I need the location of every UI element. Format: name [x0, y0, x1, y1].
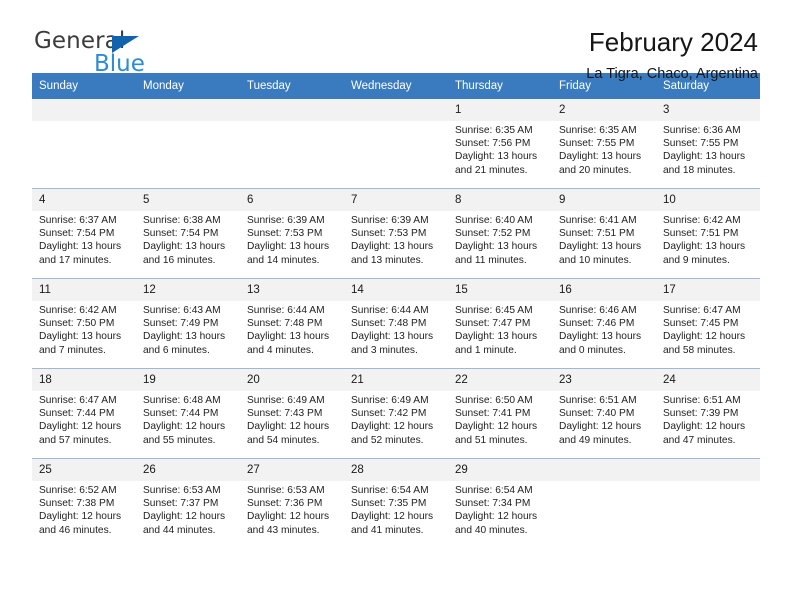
- calendar-page: General Blue February 2024 La Tigra, Cha…: [0, 0, 792, 612]
- sunrise-text: Sunrise: 6:47 AM: [39, 394, 128, 407]
- day-number: 21: [344, 369, 448, 391]
- day-info: [656, 481, 760, 484]
- day-cell[interactable]: 28 Sunrise: 6:54 AM Sunset: 7:35 PM Dayl…: [344, 459, 448, 549]
- daylight-text-line1: Daylight: 13 hours: [247, 330, 336, 343]
- day-info: Sunrise: 6:35 AM Sunset: 7:55 PM Dayligh…: [552, 121, 656, 177]
- general-blue-logo[interactable]: General Blue: [34, 28, 254, 76]
- sunset-text: Sunset: 7:48 PM: [351, 317, 440, 330]
- daylight-text-line1: Daylight: 12 hours: [143, 510, 232, 523]
- sunset-text: Sunset: 7:45 PM: [663, 317, 752, 330]
- page-masthead: General Blue February 2024 La Tigra, Cha…: [32, 0, 760, 73]
- day-info: Sunrise: 6:53 AM Sunset: 7:36 PM Dayligh…: [240, 481, 344, 537]
- day-cell[interactable]: 11 Sunrise: 6:42 AM Sunset: 7:50 PM Dayl…: [32, 279, 136, 369]
- day-number: [136, 99, 240, 121]
- weekday-header-tuesday: Tuesday: [240, 73, 344, 99]
- day-number: [656, 459, 760, 481]
- daylight-text-line2: and 6 minutes.: [143, 344, 232, 357]
- daylight-text-line1: Daylight: 13 hours: [559, 150, 648, 163]
- daylight-text-line1: Daylight: 13 hours: [559, 330, 648, 343]
- day-info: Sunrise: 6:52 AM Sunset: 7:38 PM Dayligh…: [32, 481, 136, 537]
- daylight-text-line2: and 14 minutes.: [247, 254, 336, 267]
- sunrise-text: Sunrise: 6:44 AM: [351, 304, 440, 317]
- daylight-text-line1: Daylight: 12 hours: [455, 510, 544, 523]
- sunset-text: Sunset: 7:53 PM: [351, 227, 440, 240]
- sunrise-text: Sunrise: 6:49 AM: [351, 394, 440, 407]
- sunset-text: Sunset: 7:36 PM: [247, 497, 336, 510]
- day-number: 14: [344, 279, 448, 301]
- daylight-text-line1: Daylight: 13 hours: [455, 330, 544, 343]
- day-number: [32, 99, 136, 121]
- sunrise-text: Sunrise: 6:35 AM: [559, 124, 648, 137]
- sunrise-text: Sunrise: 6:38 AM: [143, 214, 232, 227]
- day-info: Sunrise: 6:54 AM Sunset: 7:35 PM Dayligh…: [344, 481, 448, 537]
- title-block: February 2024 La Tigra, Chaco, Argentina: [586, 26, 758, 84]
- sunrise-text: Sunrise: 6:52 AM: [39, 484, 128, 497]
- sunrise-text: Sunrise: 6:53 AM: [247, 484, 336, 497]
- day-info: Sunrise: 6:50 AM Sunset: 7:41 PM Dayligh…: [448, 391, 552, 447]
- sunset-text: Sunset: 7:51 PM: [559, 227, 648, 240]
- calendar-week-row: 18 Sunrise: 6:47 AM Sunset: 7:44 PM Dayl…: [32, 369, 760, 459]
- day-cell[interactable]: 15 Sunrise: 6:45 AM Sunset: 7:47 PM Dayl…: [448, 279, 552, 369]
- daylight-text-line2: and 10 minutes.: [559, 254, 648, 267]
- sunrise-text: Sunrise: 6:37 AM: [39, 214, 128, 227]
- daylight-text-line2: and 1 minute.: [455, 344, 544, 357]
- sunrise-text: Sunrise: 6:41 AM: [559, 214, 648, 227]
- day-number: 12: [136, 279, 240, 301]
- day-cell[interactable]: [552, 459, 656, 549]
- daylight-text-line1: Daylight: 12 hours: [455, 420, 544, 433]
- day-cell[interactable]: 26 Sunrise: 6:53 AM Sunset: 7:37 PM Dayl…: [136, 459, 240, 549]
- daylight-text-line1: Daylight: 13 hours: [351, 240, 440, 253]
- day-cell[interactable]: [240, 99, 344, 189]
- weekday-header-thursday: Thursday: [448, 73, 552, 99]
- calendar-week-row: 1 Sunrise: 6:35 AM Sunset: 7:56 PM Dayli…: [32, 99, 760, 189]
- day-number: 19: [136, 369, 240, 391]
- daylight-text-line2: and 49 minutes.: [559, 434, 648, 447]
- day-number: 8: [448, 189, 552, 211]
- day-cell[interactable]: 29 Sunrise: 6:54 AM Sunset: 7:34 PM Dayl…: [448, 459, 552, 549]
- daylight-text-line2: and 51 minutes.: [455, 434, 544, 447]
- day-info: Sunrise: 6:46 AM Sunset: 7:46 PM Dayligh…: [552, 301, 656, 357]
- day-cell[interactable]: 6 Sunrise: 6:39 AM Sunset: 7:53 PM Dayli…: [240, 189, 344, 279]
- day-number: 7: [344, 189, 448, 211]
- daylight-text-line1: Daylight: 13 hours: [39, 240, 128, 253]
- day-number: 10: [656, 189, 760, 211]
- day-number: 26: [136, 459, 240, 481]
- sunrise-text: Sunrise: 6:53 AM: [143, 484, 232, 497]
- day-info: Sunrise: 6:45 AM Sunset: 7:47 PM Dayligh…: [448, 301, 552, 357]
- day-info: Sunrise: 6:47 AM Sunset: 7:44 PM Dayligh…: [32, 391, 136, 447]
- day-cell[interactable]: 8 Sunrise: 6:40 AM Sunset: 7:52 PM Dayli…: [448, 189, 552, 279]
- daylight-text-line1: Daylight: 13 hours: [455, 240, 544, 253]
- daylight-text-line1: Daylight: 12 hours: [351, 420, 440, 433]
- day-cell[interactable]: 7 Sunrise: 6:39 AM Sunset: 7:53 PM Dayli…: [344, 189, 448, 279]
- sunset-text: Sunset: 7:40 PM: [559, 407, 648, 420]
- day-number: 27: [240, 459, 344, 481]
- day-cell[interactable]: 10 Sunrise: 6:42 AM Sunset: 7:51 PM Dayl…: [656, 189, 760, 279]
- sunset-text: Sunset: 7:52 PM: [455, 227, 544, 240]
- sunrise-text: Sunrise: 6:42 AM: [39, 304, 128, 317]
- sunset-text: Sunset: 7:51 PM: [663, 227, 752, 240]
- daylight-text-line1: Daylight: 12 hours: [143, 420, 232, 433]
- day-number: 22: [448, 369, 552, 391]
- day-cell[interactable]: 17 Sunrise: 6:47 AM Sunset: 7:45 PM Dayl…: [656, 279, 760, 369]
- sunrise-text: Sunrise: 6:39 AM: [351, 214, 440, 227]
- day-number: 4: [32, 189, 136, 211]
- daylight-text-line2: and 44 minutes.: [143, 524, 232, 537]
- day-info: Sunrise: 6:53 AM Sunset: 7:37 PM Dayligh…: [136, 481, 240, 537]
- daylight-text-line2: and 7 minutes.: [39, 344, 128, 357]
- day-cell[interactable]: 25 Sunrise: 6:52 AM Sunset: 7:38 PM Dayl…: [32, 459, 136, 549]
- day-info: Sunrise: 6:37 AM Sunset: 7:54 PM Dayligh…: [32, 211, 136, 267]
- sunset-text: Sunset: 7:44 PM: [143, 407, 232, 420]
- page-title: February 2024: [586, 26, 758, 58]
- daylight-text-line2: and 57 minutes.: [39, 434, 128, 447]
- sunrise-text: Sunrise: 6:51 AM: [663, 394, 752, 407]
- daylight-text-line1: Daylight: 12 hours: [247, 510, 336, 523]
- day-number: 17: [656, 279, 760, 301]
- daylight-text-line2: and 55 minutes.: [143, 434, 232, 447]
- day-cell[interactable]: 23 Sunrise: 6:51 AM Sunset: 7:40 PM Dayl…: [552, 369, 656, 459]
- day-cell[interactable]: 14 Sunrise: 6:44 AM Sunset: 7:48 PM Dayl…: [344, 279, 448, 369]
- daylight-text-line1: Daylight: 12 hours: [351, 510, 440, 523]
- sunrise-text: Sunrise: 6:40 AM: [455, 214, 544, 227]
- day-info: Sunrise: 6:44 AM Sunset: 7:48 PM Dayligh…: [240, 301, 344, 357]
- day-info: [136, 121, 240, 124]
- day-info: [344, 121, 448, 124]
- day-cell[interactable]: 3 Sunrise: 6:36 AM Sunset: 7:55 PM Dayli…: [656, 99, 760, 189]
- day-info: Sunrise: 6:39 AM Sunset: 7:53 PM Dayligh…: [240, 211, 344, 267]
- sunrise-text: Sunrise: 6:49 AM: [247, 394, 336, 407]
- sunrise-sunset-calendar: Sunday Monday Tuesday Wednesday Thursday…: [32, 73, 760, 548]
- sunset-text: Sunset: 7:53 PM: [247, 227, 336, 240]
- day-info: Sunrise: 6:48 AM Sunset: 7:44 PM Dayligh…: [136, 391, 240, 447]
- sunset-text: Sunset: 7:55 PM: [559, 137, 648, 150]
- day-info: Sunrise: 6:54 AM Sunset: 7:34 PM Dayligh…: [448, 481, 552, 537]
- sunrise-text: Sunrise: 6:54 AM: [351, 484, 440, 497]
- day-info: Sunrise: 6:49 AM Sunset: 7:42 PM Dayligh…: [344, 391, 448, 447]
- sunrise-text: Sunrise: 6:35 AM: [455, 124, 544, 137]
- day-number: 18: [32, 369, 136, 391]
- daylight-text-line2: and 9 minutes.: [663, 254, 752, 267]
- daylight-text-line1: Daylight: 12 hours: [39, 420, 128, 433]
- day-number: 13: [240, 279, 344, 301]
- day-cell[interactable]: [136, 99, 240, 189]
- day-cell[interactable]: 24 Sunrise: 6:51 AM Sunset: 7:39 PM Dayl…: [656, 369, 760, 459]
- sunset-text: Sunset: 7:44 PM: [39, 407, 128, 420]
- day-cell[interactable]: [344, 99, 448, 189]
- daylight-text-line1: Daylight: 12 hours: [663, 420, 752, 433]
- day-info: Sunrise: 6:43 AM Sunset: 7:49 PM Dayligh…: [136, 301, 240, 357]
- sunset-text: Sunset: 7:38 PM: [39, 497, 128, 510]
- daylight-text-line1: Daylight: 13 hours: [39, 330, 128, 343]
- day-info: Sunrise: 6:41 AM Sunset: 7:51 PM Dayligh…: [552, 211, 656, 267]
- day-info: Sunrise: 6:42 AM Sunset: 7:50 PM Dayligh…: [32, 301, 136, 357]
- day-number: 11: [32, 279, 136, 301]
- day-info: [240, 121, 344, 124]
- daylight-text-line1: Daylight: 12 hours: [559, 420, 648, 433]
- daylight-text-line1: Daylight: 13 hours: [663, 150, 752, 163]
- day-info: Sunrise: 6:51 AM Sunset: 7:39 PM Dayligh…: [656, 391, 760, 447]
- day-cell[interactable]: 16 Sunrise: 6:46 AM Sunset: 7:46 PM Dayl…: [552, 279, 656, 369]
- sunset-text: Sunset: 7:34 PM: [455, 497, 544, 510]
- day-cell[interactable]: 13 Sunrise: 6:44 AM Sunset: 7:48 PM Dayl…: [240, 279, 344, 369]
- day-number: 5: [136, 189, 240, 211]
- sunset-text: Sunset: 7:42 PM: [351, 407, 440, 420]
- daylight-text-line2: and 54 minutes.: [247, 434, 336, 447]
- daylight-text-line2: and 17 minutes.: [39, 254, 128, 267]
- day-info: Sunrise: 6:51 AM Sunset: 7:40 PM Dayligh…: [552, 391, 656, 447]
- sunset-text: Sunset: 7:56 PM: [455, 137, 544, 150]
- day-number: 9: [552, 189, 656, 211]
- calendar-week-row: 11 Sunrise: 6:42 AM Sunset: 7:50 PM Dayl…: [32, 279, 760, 369]
- day-cell[interactable]: 22 Sunrise: 6:50 AM Sunset: 7:41 PM Dayl…: [448, 369, 552, 459]
- day-cell[interactable]: 20 Sunrise: 6:49 AM Sunset: 7:43 PM Dayl…: [240, 369, 344, 459]
- sunset-text: Sunset: 7:41 PM: [455, 407, 544, 420]
- daylight-text-line2: and 46 minutes.: [39, 524, 128, 537]
- sunset-text: Sunset: 7:50 PM: [39, 317, 128, 330]
- sunrise-text: Sunrise: 6:51 AM: [559, 394, 648, 407]
- sunrise-text: Sunrise: 6:44 AM: [247, 304, 336, 317]
- sunrise-text: Sunrise: 6:50 AM: [455, 394, 544, 407]
- daylight-text-line2: and 20 minutes.: [559, 164, 648, 177]
- sunrise-text: Sunrise: 6:36 AM: [663, 124, 752, 137]
- day-info: Sunrise: 6:42 AM Sunset: 7:51 PM Dayligh…: [656, 211, 760, 267]
- day-number: 20: [240, 369, 344, 391]
- sunset-text: Sunset: 7:54 PM: [39, 227, 128, 240]
- day-number: [552, 459, 656, 481]
- sunset-text: Sunset: 7:39 PM: [663, 407, 752, 420]
- daylight-text-line1: Daylight: 13 hours: [455, 150, 544, 163]
- day-info: [32, 121, 136, 124]
- sunset-text: Sunset: 7:55 PM: [663, 137, 752, 150]
- page-subtitle: La Tigra, Chaco, Argentina: [586, 64, 758, 84]
- calendar-body: 1 Sunrise: 6:35 AM Sunset: 7:56 PM Dayli…: [32, 99, 760, 548]
- daylight-text-line2: and 40 minutes.: [455, 524, 544, 537]
- day-number: 16: [552, 279, 656, 301]
- day-cell[interactable]: 12 Sunrise: 6:43 AM Sunset: 7:49 PM Dayl…: [136, 279, 240, 369]
- day-cell[interactable]: 9 Sunrise: 6:41 AM Sunset: 7:51 PM Dayli…: [552, 189, 656, 279]
- day-number: 28: [344, 459, 448, 481]
- day-cell[interactable]: 21 Sunrise: 6:49 AM Sunset: 7:42 PM Dayl…: [344, 369, 448, 459]
- sunset-text: Sunset: 7:47 PM: [455, 317, 544, 330]
- sunset-text: Sunset: 7:43 PM: [247, 407, 336, 420]
- day-cell[interactable]: 4 Sunrise: 6:37 AM Sunset: 7:54 PM Dayli…: [32, 189, 136, 279]
- day-cell[interactable]: 2 Sunrise: 6:35 AM Sunset: 7:55 PM Dayli…: [552, 99, 656, 189]
- day-cell[interactable]: [32, 99, 136, 189]
- day-number: 29: [448, 459, 552, 481]
- sunrise-text: Sunrise: 6:39 AM: [247, 214, 336, 227]
- daylight-text-line1: Daylight: 12 hours: [663, 330, 752, 343]
- sunset-text: Sunset: 7:37 PM: [143, 497, 232, 510]
- day-number: 15: [448, 279, 552, 301]
- sunset-text: Sunset: 7:54 PM: [143, 227, 232, 240]
- daylight-text-line2: and 58 minutes.: [663, 344, 752, 357]
- daylight-text-line1: Daylight: 13 hours: [351, 330, 440, 343]
- day-cell[interactable]: 27 Sunrise: 6:53 AM Sunset: 7:36 PM Dayl…: [240, 459, 344, 549]
- day-number: 1: [448, 99, 552, 121]
- sunset-text: Sunset: 7:48 PM: [247, 317, 336, 330]
- weekday-header-wednesday: Wednesday: [344, 73, 448, 99]
- day-info: Sunrise: 6:49 AM Sunset: 7:43 PM Dayligh…: [240, 391, 344, 447]
- day-number: [240, 99, 344, 121]
- day-number: 2: [552, 99, 656, 121]
- daylight-text-line2: and 47 minutes.: [663, 434, 752, 447]
- calendar-week-row: 25 Sunrise: 6:52 AM Sunset: 7:38 PM Dayl…: [32, 459, 760, 549]
- day-number: 25: [32, 459, 136, 481]
- daylight-text-line1: Daylight: 13 hours: [143, 330, 232, 343]
- sunset-text: Sunset: 7:46 PM: [559, 317, 648, 330]
- daylight-text-line2: and 43 minutes.: [247, 524, 336, 537]
- day-cell[interactable]: 1 Sunrise: 6:35 AM Sunset: 7:56 PM Dayli…: [448, 99, 552, 189]
- daylight-text-line1: Daylight: 12 hours: [39, 510, 128, 523]
- day-number: 24: [656, 369, 760, 391]
- daylight-text-line2: and 3 minutes.: [351, 344, 440, 357]
- sunrise-text: Sunrise: 6:42 AM: [663, 214, 752, 227]
- day-number: [344, 99, 448, 121]
- day-info: Sunrise: 6:44 AM Sunset: 7:48 PM Dayligh…: [344, 301, 448, 357]
- day-cell[interactable]: 5 Sunrise: 6:38 AM Sunset: 7:54 PM Dayli…: [136, 189, 240, 279]
- day-cell[interactable]: [656, 459, 760, 549]
- day-number: 23: [552, 369, 656, 391]
- sunrise-text: Sunrise: 6:54 AM: [455, 484, 544, 497]
- day-info: Sunrise: 6:38 AM Sunset: 7:54 PM Dayligh…: [136, 211, 240, 267]
- day-cell[interactable]: 18 Sunrise: 6:47 AM Sunset: 7:44 PM Dayl…: [32, 369, 136, 459]
- logo-text-blue: Blue: [94, 51, 145, 77]
- day-number: 6: [240, 189, 344, 211]
- calendar-week-row: 4 Sunrise: 6:37 AM Sunset: 7:54 PM Dayli…: [32, 189, 760, 279]
- daylight-text-line1: Daylight: 12 hours: [247, 420, 336, 433]
- daylight-text-line2: and 4 minutes.: [247, 344, 336, 357]
- sunrise-text: Sunrise: 6:46 AM: [559, 304, 648, 317]
- daylight-text-line2: and 52 minutes.: [351, 434, 440, 447]
- day-cell[interactable]: 19 Sunrise: 6:48 AM Sunset: 7:44 PM Dayl…: [136, 369, 240, 459]
- daylight-text-line1: Daylight: 13 hours: [559, 240, 648, 253]
- daylight-text-line1: Daylight: 13 hours: [663, 240, 752, 253]
- day-number: 3: [656, 99, 760, 121]
- day-info: [552, 481, 656, 484]
- sunrise-text: Sunrise: 6:45 AM: [455, 304, 544, 317]
- daylight-text-line1: Daylight: 13 hours: [143, 240, 232, 253]
- daylight-text-line2: and 13 minutes.: [351, 254, 440, 267]
- sunset-text: Sunset: 7:49 PM: [143, 317, 232, 330]
- weekday-header-monday: Monday: [136, 73, 240, 99]
- day-info: Sunrise: 6:40 AM Sunset: 7:52 PM Dayligh…: [448, 211, 552, 267]
- day-info: Sunrise: 6:39 AM Sunset: 7:53 PM Dayligh…: [344, 211, 448, 267]
- day-info: Sunrise: 6:47 AM Sunset: 7:45 PM Dayligh…: [656, 301, 760, 357]
- daylight-text-line1: Daylight: 13 hours: [247, 240, 336, 253]
- daylight-text-line2: and 21 minutes.: [455, 164, 544, 177]
- sunrise-text: Sunrise: 6:43 AM: [143, 304, 232, 317]
- daylight-text-line2: and 16 minutes.: [143, 254, 232, 267]
- sunrise-text: Sunrise: 6:48 AM: [143, 394, 232, 407]
- daylight-text-line2: and 18 minutes.: [663, 164, 752, 177]
- day-info: Sunrise: 6:36 AM Sunset: 7:55 PM Dayligh…: [656, 121, 760, 177]
- sunrise-text: Sunrise: 6:47 AM: [663, 304, 752, 317]
- sunset-text: Sunset: 7:35 PM: [351, 497, 440, 510]
- daylight-text-line2: and 11 minutes.: [455, 254, 544, 267]
- day-info: Sunrise: 6:35 AM Sunset: 7:56 PM Dayligh…: [448, 121, 552, 177]
- daylight-text-line2: and 0 minutes.: [559, 344, 648, 357]
- daylight-text-line2: and 41 minutes.: [351, 524, 440, 537]
